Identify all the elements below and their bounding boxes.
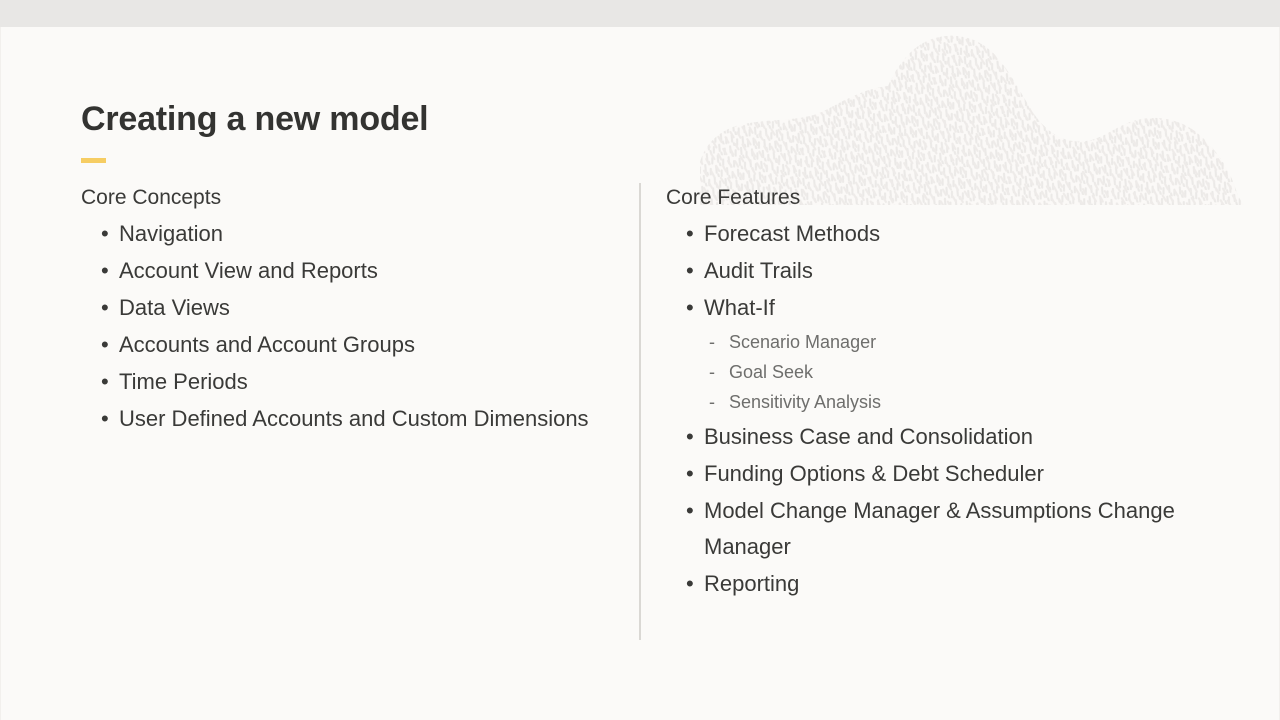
bullet-marker-icon: • <box>101 290 109 326</box>
slide-edge-left <box>0 27 1 720</box>
bullet-marker-icon: • <box>686 419 694 455</box>
list-item[interactable]: - Scenario Manager <box>666 327 1226 357</box>
list-item-label: Audit Trails <box>704 253 1226 289</box>
list-item[interactable]: • Audit Trails <box>666 253 1226 289</box>
list-item-label: Reporting <box>704 566 1226 602</box>
title-accent-bar <box>81 158 106 163</box>
window-top-bar <box>0 0 1280 27</box>
list-item[interactable]: • What-If <box>666 290 1226 326</box>
bullet-marker-icon: • <box>101 327 109 363</box>
slide-canvas: Creating a new model Core Concepts • Nav… <box>0 0 1280 720</box>
dash-marker-icon: - <box>709 387 715 417</box>
bullet-marker-icon: • <box>686 456 694 492</box>
page-title: Creating a new model <box>81 98 428 140</box>
list-item[interactable]: • Time Periods <box>81 364 601 400</box>
title-block: Creating a new model <box>81 98 428 163</box>
bullet-marker-icon: • <box>686 493 694 529</box>
list-item[interactable]: • Accounts and Account Groups <box>81 327 601 363</box>
list-item[interactable]: • Navigation <box>81 216 601 252</box>
bullet-marker-icon: • <box>101 253 109 289</box>
bullet-marker-icon: • <box>686 216 694 252</box>
bullet-list-core-features: • Forecast Methods • Audit Trails • What… <box>666 216 1226 326</box>
list-item[interactable]: • Business Case and Consolidation <box>666 419 1226 455</box>
list-item-label: What-If <box>704 290 1226 326</box>
dash-marker-icon: - <box>709 357 715 387</box>
list-item[interactable]: • Model Change Manager & Assumptions Cha… <box>666 493 1226 565</box>
list-item-label: Scenario Manager <box>729 327 1226 357</box>
decorative-texture-graphic <box>700 30 1245 205</box>
list-item-label: Account View and Reports <box>119 253 601 289</box>
list-item[interactable]: - Goal Seek <box>666 357 1226 387</box>
column-divider <box>639 183 641 640</box>
list-item-label: Business Case and Consolidation <box>704 419 1226 455</box>
column-heading-core-features: Core Features <box>666 183 1226 213</box>
list-item-label: Goal Seek <box>729 357 1226 387</box>
bullet-list-core-concepts: • Navigation • Account View and Reports … <box>81 216 601 437</box>
list-item-label: Forecast Methods <box>704 216 1226 252</box>
dash-marker-icon: - <box>709 327 715 357</box>
list-item-label: Accounts and Account Groups <box>119 327 601 363</box>
bullet-list-core-features-continued: • Business Case and Consolidation • Fund… <box>666 419 1226 602</box>
list-item[interactable]: • Reporting <box>666 566 1226 602</box>
list-item-label: Funding Options & Debt Scheduler <box>704 456 1226 492</box>
bullet-marker-icon: • <box>101 401 109 437</box>
list-item-label: Time Periods <box>119 364 601 400</box>
list-item-label: Model Change Manager & Assumptions Chang… <box>704 493 1226 565</box>
list-item-label: Navigation <box>119 216 601 252</box>
list-item[interactable]: • Data Views <box>81 290 601 326</box>
sub-bullet-list-what-if: - Scenario Manager - Goal Seek - Sensiti… <box>666 327 1226 417</box>
bullet-marker-icon: • <box>101 216 109 252</box>
list-item-label: User Defined Accounts and Custom Dimensi… <box>119 401 601 437</box>
column-core-features: Core Features • Forecast Methods • Audit… <box>666 183 1226 603</box>
list-item[interactable]: • Forecast Methods <box>666 216 1226 252</box>
bullet-marker-icon: • <box>686 566 694 602</box>
list-item[interactable]: • Account View and Reports <box>81 253 601 289</box>
list-item[interactable]: • Funding Options & Debt Scheduler <box>666 456 1226 492</box>
column-core-concepts: Core Concepts • Navigation • Account Vie… <box>81 183 601 438</box>
bullet-marker-icon: • <box>686 290 694 326</box>
list-item[interactable]: - Sensitivity Analysis <box>666 387 1226 417</box>
bullet-marker-icon: • <box>101 364 109 400</box>
list-item[interactable]: • User Defined Accounts and Custom Dimen… <box>81 401 601 437</box>
list-item-label: Data Views <box>119 290 601 326</box>
bullet-marker-icon: • <box>686 253 694 289</box>
list-item-label: Sensitivity Analysis <box>729 387 1226 417</box>
column-heading-core-concepts: Core Concepts <box>81 183 601 213</box>
